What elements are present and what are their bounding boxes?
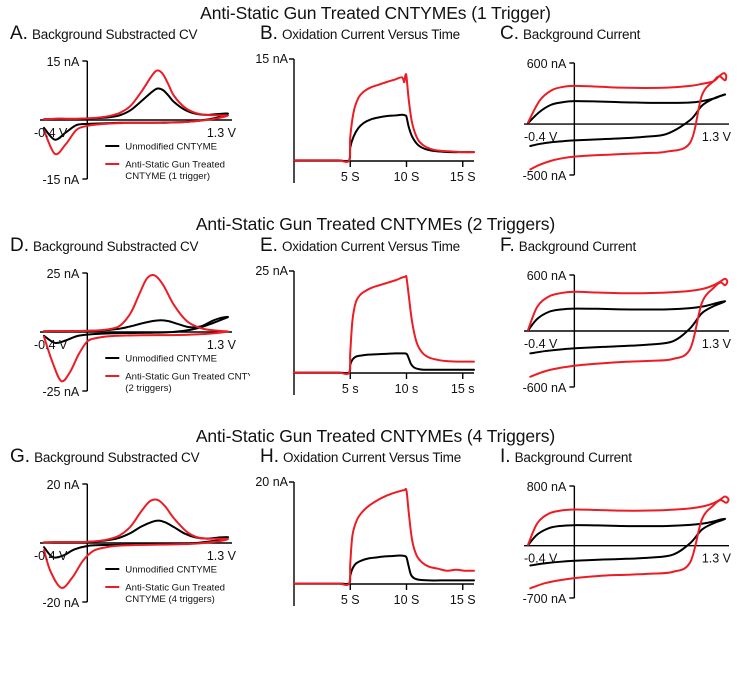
plot-area: 20 nA5 S10 S15 S	[250, 466, 490, 634]
figure-row-1: Anti-Static Gun Treated CNTYMEs (1 Trigg…	[0, 0, 751, 211]
x-axis-right-label: 1.3 V	[207, 549, 237, 563]
x-tick-label: 10 S	[394, 170, 420, 184]
x-tick-label: 10 s	[395, 382, 419, 396]
row-panels: A.Background Substracted CV15 nA-15 nA-0…	[0, 23, 751, 211]
x-tick-label: 10 S	[394, 593, 420, 607]
x-axis-left-label: -0.4 V	[34, 549, 68, 563]
plot-area: 600 nA-500 nA-0.4 V1.3 V	[490, 43, 751, 211]
trace-treated	[294, 489, 474, 585]
panel-letter: H.	[260, 446, 279, 468]
legend-label-treated-1: Anti-Static Gun Treated	[125, 160, 225, 171]
plot-area: 20 nA-20 nA-0.4 V1.3 VUnmodified CNTYMEA…	[0, 466, 250, 634]
plot-area: 600 nA-600 nA-0.4 V1.3 V	[490, 255, 751, 423]
panel-caption: Oxidation Current Versus Time	[283, 450, 461, 465]
panel-b: B.Oxidation Current Versus Time15 nA5 S1…	[250, 23, 490, 211]
panel-caption: Background Current	[523, 27, 640, 42]
trace-unmodified	[528, 95, 725, 147]
x-axis-left-label: -0.4 V	[34, 126, 68, 140]
trace-treated	[294, 275, 474, 373]
x-axis-right-label: 1.3 V	[702, 551, 732, 565]
x-tick-label: 15 S	[450, 170, 476, 184]
panel-caption: Background Current	[519, 239, 636, 254]
trace-treated	[44, 275, 228, 381]
legend-label-treated-2: CNTYME (4 triggers)	[125, 594, 215, 605]
trace-unmodified	[294, 115, 474, 162]
y-axis-bottom-label: -25 nA	[42, 385, 79, 399]
x-tick-label: 5 S	[341, 593, 360, 607]
x-axis-right-label: 1.3 V	[207, 126, 237, 140]
panel-header: A.Background Substracted CV	[0, 23, 250, 43]
panel-c: C.Background Current600 nA-500 nA-0.4 V1…	[490, 23, 751, 211]
panel-letter: E.	[260, 235, 278, 257]
panel-header: G.Background Substracted CV	[0, 446, 250, 466]
legend-label-treated-1: Anti-Static Gun Treated CNTYME	[125, 371, 250, 382]
panel-caption: Background Substracted CV	[33, 239, 198, 254]
x-tick-label: 15 s	[451, 382, 475, 396]
panel-h: H.Oxidation Current Versus Time20 nA5 S1…	[250, 446, 490, 634]
x-tick-label: 5 S	[341, 170, 360, 184]
row-title: Anti-Static Gun Treated CNTYMEs (4 Trigg…	[0, 423, 751, 446]
panel-header: F.Background Current	[490, 235, 751, 255]
panel-header: H.Oxidation Current Versus Time	[250, 446, 490, 466]
y-axis-top-label: 800 nA	[527, 480, 567, 494]
row-panels: D.Background Substracted CV25 nA-25 nA-0…	[0, 235, 751, 423]
panel-header: D.Background Substracted CV	[0, 235, 250, 255]
x-axis-left-label: -0.4 V	[524, 337, 558, 351]
panel-header: E.Oxidation Current Versus Time	[250, 235, 490, 255]
panel-caption: Background Substracted CV	[32, 27, 197, 42]
y-axis-top-label: 25 nA	[255, 264, 288, 278]
trace-treated	[528, 73, 726, 169]
plot-area: 800 nA-700 nA-0.4 V1.3 V	[490, 466, 751, 634]
plot-area: 15 nA-15 nA-0.4 V1.3 VUnmodified CNTYMEA…	[0, 43, 250, 211]
trace-unmodified	[44, 316, 228, 342]
legend-label-unmodified: Unmodified CNTYME	[125, 142, 217, 153]
trace-unmodified	[294, 353, 474, 373]
y-axis-top-label: 15 nA	[47, 55, 80, 69]
legend-label-treated-2: CNTYME (1 trigger)	[125, 171, 210, 182]
panel-letter: G.	[10, 446, 30, 468]
panel-letter: D.	[10, 235, 29, 257]
panel-i: I.Background Current800 nA-700 nA-0.4 V1…	[490, 446, 751, 634]
legend-label-unmodified: Unmodified CNTYME	[125, 353, 217, 364]
y-axis-top-label: 600 nA	[527, 57, 567, 71]
legend-label-treated-2: (2 triggers)	[125, 383, 171, 394]
figure-rows: Anti-Static Gun Treated CNTYMEs (1 Trigg…	[0, 0, 751, 634]
row-title: Anti-Static Gun Treated CNTYMEs (1 Trigg…	[0, 0, 751, 23]
figure-row-3: Anti-Static Gun Treated CNTYMEs (4 Trigg…	[0, 423, 751, 634]
y-axis-top-label: 20 nA	[47, 478, 80, 492]
panel-header: C.Background Current	[490, 23, 751, 43]
plot-area: 25 nA5 s10 s15 s	[250, 255, 490, 423]
x-tick-label: 15 S	[450, 593, 476, 607]
panel-letter: F.	[500, 235, 515, 257]
plot-area: 15 nA5 S10 S15 S	[250, 43, 490, 211]
trace-treated	[528, 496, 729, 588]
panel-e: E.Oxidation Current Versus Time25 nA5 s1…	[250, 235, 490, 423]
y-axis-bottom-label: -700 nA	[523, 592, 567, 606]
figure-row-2: Anti-Static Gun Treated CNTYMEs (2 Trigg…	[0, 211, 751, 422]
x-axis-right-label: 1.3 V	[207, 338, 237, 352]
x-axis-left-label: -0.4 V	[524, 130, 558, 144]
x-axis-left-label: -0.4 V	[524, 551, 558, 565]
figure-container: Anti-Static Gun Treated CNTYMEs (1 Trigg…	[0, 0, 751, 693]
panel-letter: B.	[260, 23, 278, 45]
panel-d: D.Background Substracted CV25 nA-25 nA-0…	[0, 235, 250, 423]
y-axis-top-label: 20 nA	[255, 475, 288, 489]
trace-unmodified	[44, 520, 228, 557]
y-axis-bottom-label: -600 nA	[523, 381, 567, 395]
plot-area: 25 nA-25 nA-0.4 V1.3 VUnmodified CNTYMEA…	[0, 255, 250, 423]
row-title: Anti-Static Gun Treated CNTYMEs (2 Trigg…	[0, 211, 751, 234]
panel-caption: Background Current	[515, 450, 632, 465]
panel-header: I.Background Current	[490, 446, 751, 466]
legend-label-treated-1: Anti-Static Gun Treated	[125, 582, 225, 593]
y-axis-top-label: 15 nA	[255, 52, 288, 66]
trace-treated	[294, 74, 474, 162]
panel-g: G.Background Substracted CV20 nA-20 nA-0…	[0, 446, 250, 634]
y-axis-top-label: 600 nA	[527, 269, 567, 283]
panel-caption: Oxidation Current Versus Time	[282, 27, 460, 42]
y-axis-bottom-label: -20 nA	[42, 596, 79, 610]
panel-caption: Background Substracted CV	[34, 450, 199, 465]
x-axis-right-label: 1.3 V	[702, 337, 732, 351]
trace-treated	[528, 278, 727, 376]
panel-header: B.Oxidation Current Versus Time	[250, 23, 490, 43]
panel-caption: Oxidation Current Versus Time	[282, 239, 460, 254]
y-axis-bottom-label: -15 nA	[42, 173, 79, 187]
x-axis-right-label: 1.3 V	[702, 130, 732, 144]
panel-f: F.Background Current600 nA-600 nA-0.4 V1…	[490, 235, 751, 423]
x-tick-label: 5 s	[342, 382, 359, 396]
panel-a: A.Background Substracted CV15 nA-15 nA-0…	[0, 23, 250, 211]
row-panels: G.Background Substracted CV20 nA-20 nA-0…	[0, 446, 751, 634]
y-axis-bottom-label: -500 nA	[523, 169, 567, 183]
panel-letter: C.	[500, 23, 519, 45]
panel-letter: I.	[500, 446, 511, 468]
legend-label-unmodified: Unmodified CNTYME	[125, 564, 217, 575]
panel-letter: A.	[10, 23, 28, 45]
x-axis-left-label: -0.4 V	[34, 338, 68, 352]
y-axis-top-label: 25 nA	[47, 267, 80, 281]
